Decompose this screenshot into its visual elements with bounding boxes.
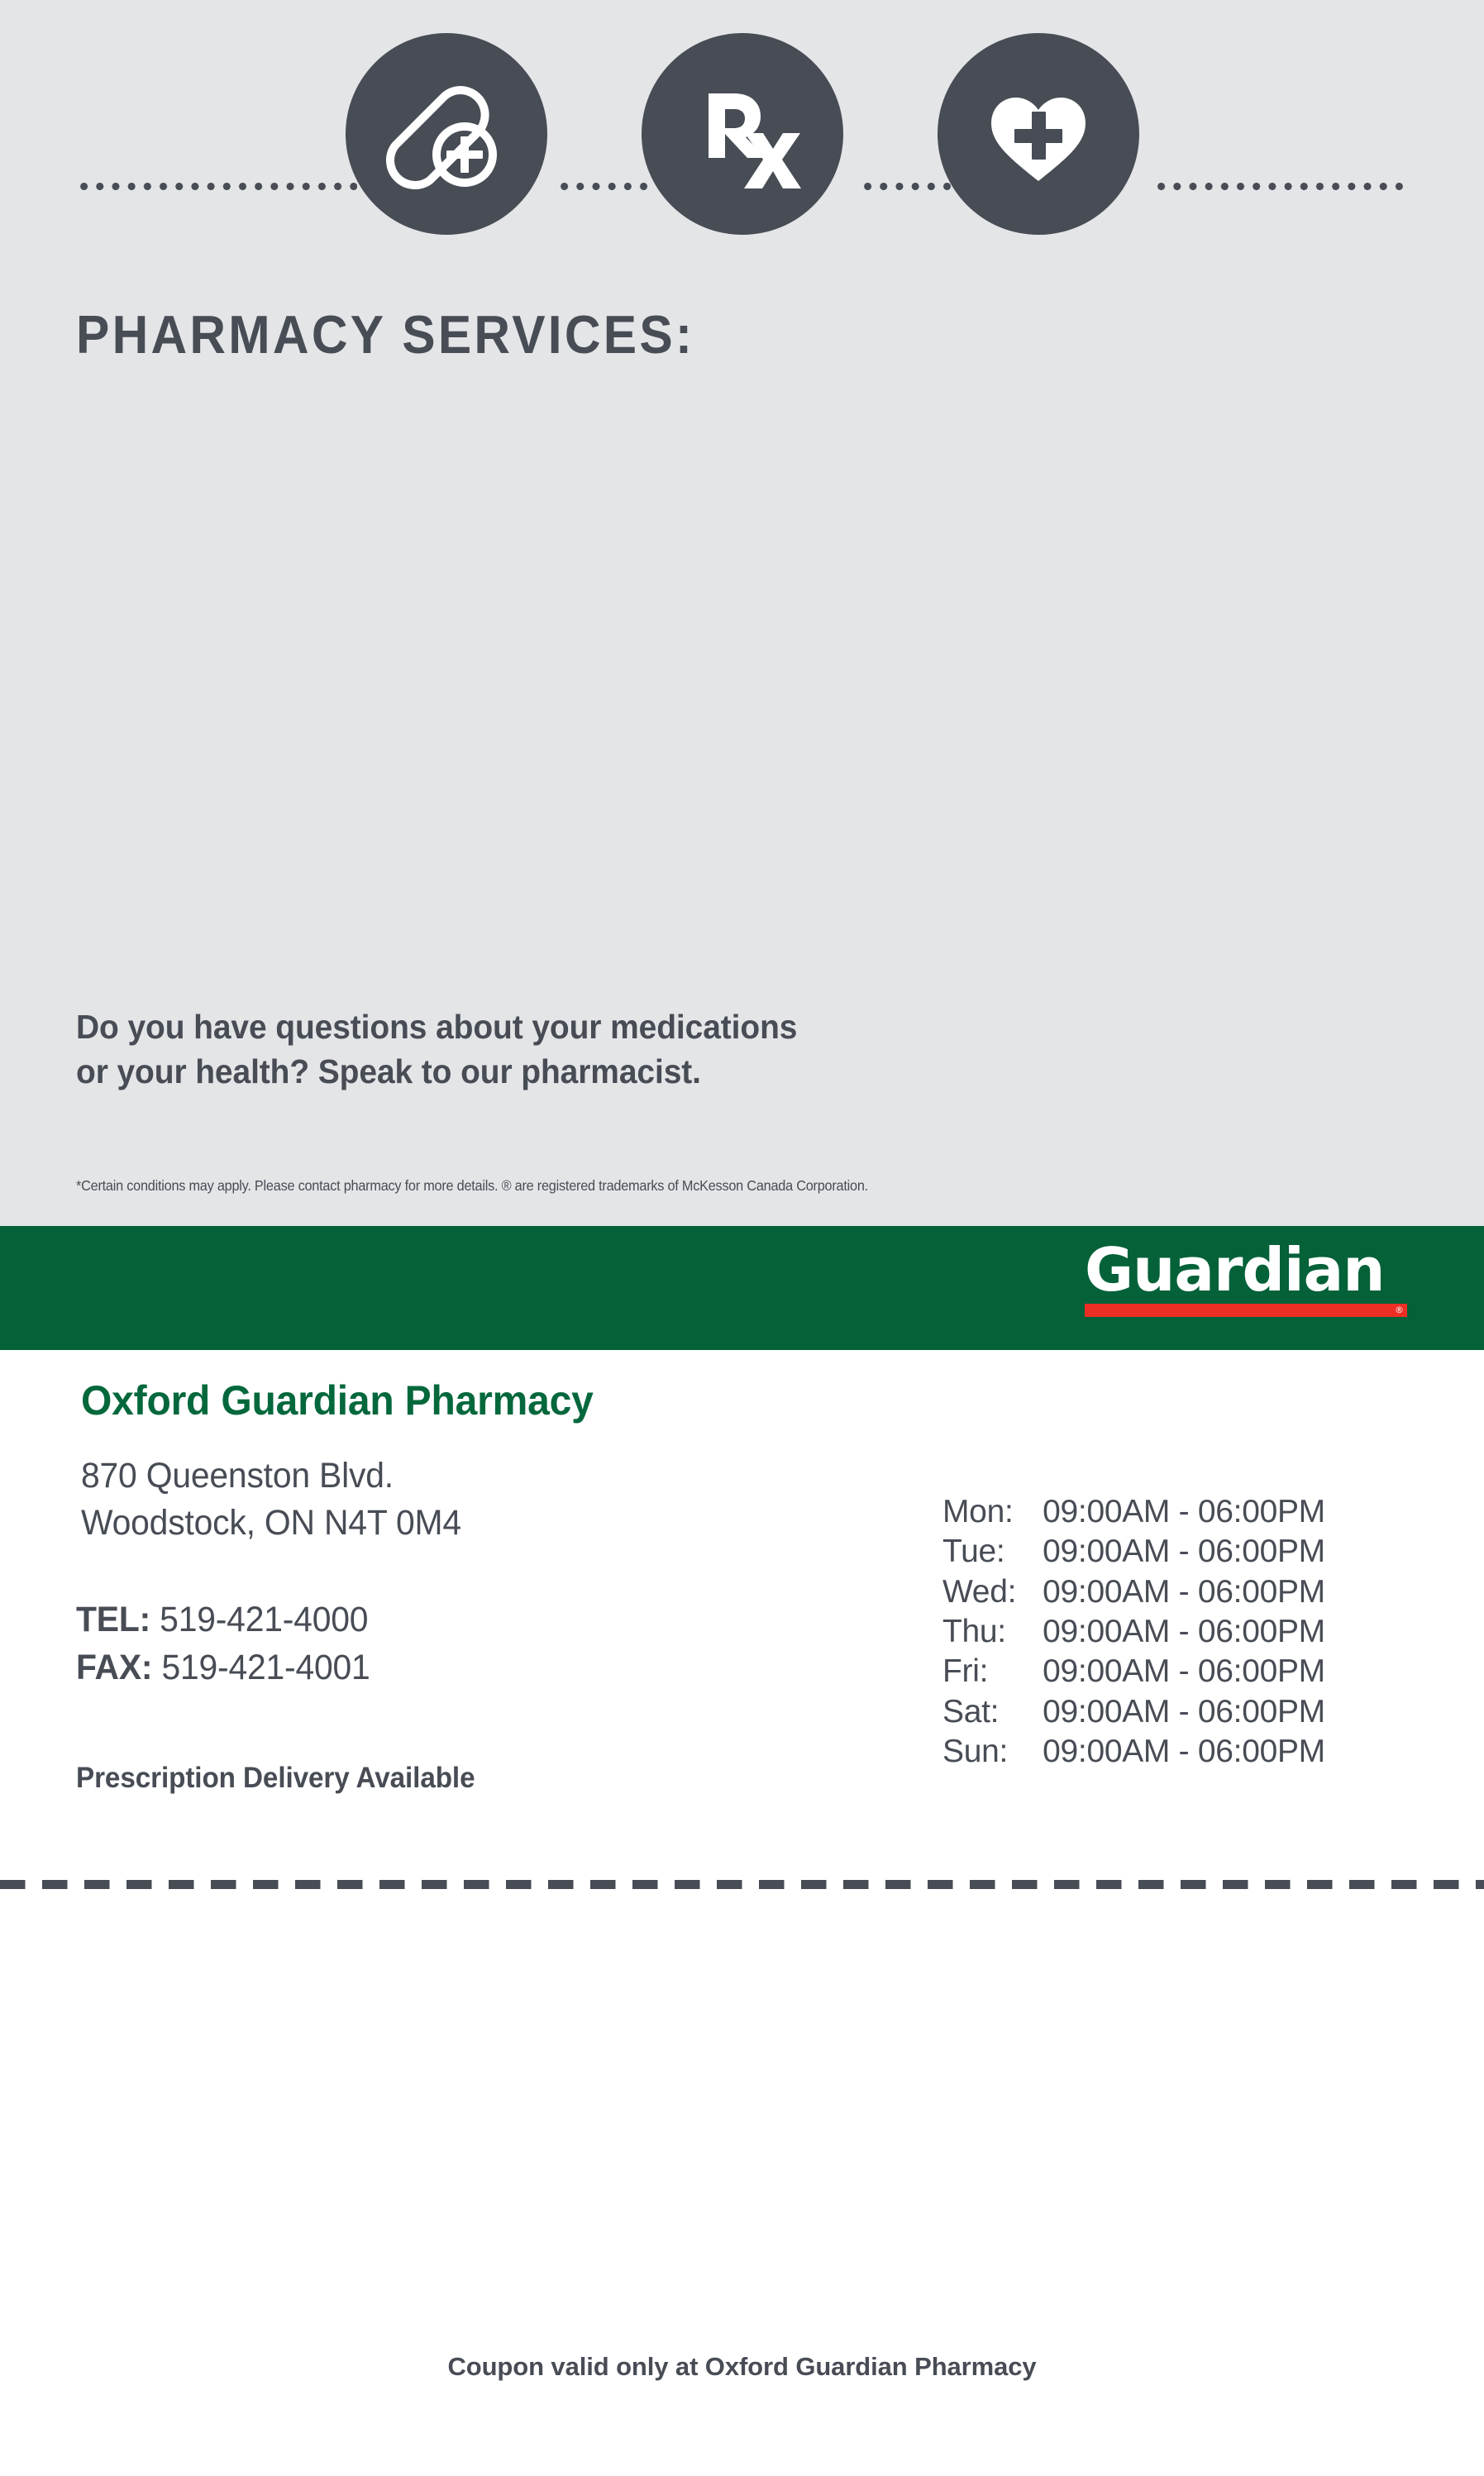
table-row: Tue: 09:00AM - 06:00PM	[942, 1532, 1325, 1572]
pharmacy-services-panel: PHARMACY SERVICES: Do you have questions…	[0, 0, 1484, 1226]
hours-day: Wed:	[942, 1572, 1043, 1612]
registered-trademark-icon: ®	[1395, 1305, 1407, 1314]
hours-time: 09:00AM - 06:00PM	[1043, 1732, 1325, 1772]
address-line-2: Woodstock, ON N4T 0M4	[81, 1500, 461, 1547]
guardian-logo: Guardian ®	[1085, 1241, 1407, 1317]
store-address: 870 Queenston Blvd. Woodstock, ON N4T 0M…	[81, 1453, 461, 1547]
store-info-section: Oxford Guardian Pharmacy 870 Queenston B…	[0, 1350, 1484, 1873]
table-row: Thu: 09:00AM - 06:00PM	[942, 1612, 1325, 1652]
pills-plus-icon	[346, 33, 547, 235]
coupon-cut-line	[0, 1880, 1484, 1889]
heart-plus-icon	[938, 33, 1139, 235]
dotted-rule-mid-right	[860, 183, 953, 190]
hours-day: Fri:	[942, 1652, 1043, 1691]
pharmacist-question: Do you have questions about your medicat…	[76, 1004, 797, 1094]
legal-fine-print: *Certain conditions may apply. Please co…	[76, 1177, 868, 1195]
table-row: Sat: 09:00AM - 06:00PM	[942, 1692, 1325, 1732]
telephone-row: TEL: 519-421-4000	[76, 1596, 370, 1644]
hours-time: 09:00AM - 06:00PM	[1043, 1532, 1325, 1572]
delivery-note: Prescription Delivery Available	[76, 1762, 475, 1795]
services-list	[76, 397, 1407, 976]
hours-day: Sat:	[942, 1692, 1043, 1732]
question-line-2: or your health? Speak to our pharmacist.	[76, 1049, 797, 1094]
telephone-label: TEL:	[76, 1600, 150, 1639]
guardian-red-bar: ®	[1085, 1304, 1407, 1317]
table-row: Sun: 09:00AM - 06:00PM	[942, 1732, 1325, 1772]
address-line-1: 870 Queenston Blvd.	[81, 1453, 461, 1500]
store-hours-table: Mon: 09:00AM - 06:00PM Tue: 09:00AM - 06…	[942, 1492, 1325, 1772]
dotted-rule-mid-left	[556, 183, 650, 190]
store-contact: TEL: 519-421-4000 FAX: 519-421-4001	[76, 1596, 370, 1691]
telephone-value[interactable]: 519-421-4000	[160, 1600, 368, 1639]
hours-day: Sun:	[942, 1732, 1043, 1772]
hours-time: 09:00AM - 06:00PM	[1043, 1652, 1325, 1691]
icon-strip	[0, 33, 1484, 248]
fax-row: FAX: 519-421-4001	[76, 1644, 370, 1692]
hours-day: Mon:	[942, 1492, 1043, 1532]
brand-band: Guardian ®	[0, 1226, 1484, 1350]
coupon-validity-note: Coupon valid only at Oxford Guardian Pha…	[0, 2352, 1484, 2382]
dotted-rule-right	[1153, 183, 1410, 190]
pharmacy-flyer-page: PHARMACY SERVICES: Do you have questions…	[0, 0, 1484, 2476]
rx-icon	[642, 33, 843, 235]
store-name: Oxford Guardian Pharmacy	[81, 1376, 594, 1424]
hours-time: 09:00AM - 06:00PM	[1043, 1492, 1325, 1532]
hours-time: 09:00AM - 06:00PM	[1043, 1612, 1325, 1652]
coupon-area: Coupon valid only at Oxford Guardian Pha…	[0, 1889, 1484, 2476]
hours-day: Tue:	[942, 1532, 1043, 1572]
hours-time: 09:00AM - 06:00PM	[1043, 1692, 1325, 1732]
page-title: PHARMACY SERVICES:	[76, 308, 694, 361]
guardian-wordmark: Guardian	[1085, 1241, 1407, 1300]
fax-value[interactable]: 519-421-4001	[161, 1648, 370, 1687]
hours-day: Thu:	[942, 1612, 1043, 1652]
table-row: Fri: 09:00AM - 06:00PM	[942, 1652, 1325, 1691]
table-row: Wed: 09:00AM - 06:00PM	[942, 1572, 1325, 1612]
hours-time: 09:00AM - 06:00PM	[1043, 1572, 1325, 1612]
fax-label: FAX:	[76, 1648, 152, 1687]
dotted-rule-left	[76, 183, 357, 190]
question-line-1: Do you have questions about your medicat…	[76, 1004, 797, 1049]
table-row: Mon: 09:00AM - 06:00PM	[942, 1492, 1325, 1532]
